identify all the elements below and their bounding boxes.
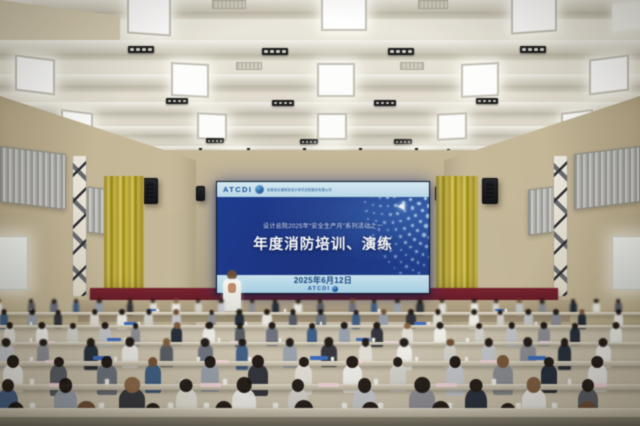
audience-member-head [393, 357, 403, 367]
audience-member-head [7, 355, 19, 368]
acoustic-slat-panel [574, 146, 640, 210]
audience-member-head [571, 299, 575, 303]
audience-member-head [299, 357, 309, 368]
paper-cup [378, 309, 380, 312]
audience-member-head [125, 337, 134, 347]
audience-member-head [395, 299, 399, 303]
paper-cup [279, 338, 281, 341]
presenter-arm [228, 283, 236, 293]
hall-window [612, 236, 640, 290]
audience-member-head [151, 299, 155, 303]
audience-member-head [133, 323, 139, 329]
audience-member-head [237, 309, 242, 315]
audience-member-head [269, 322, 276, 329]
slide-footer: 2025年6月12日 ATCDI [217, 275, 429, 293]
audience-member-head [582, 379, 594, 392]
audience-member-head [485, 338, 493, 347]
ceiling-light-panel [512, 0, 556, 34]
audience-member-head [400, 338, 409, 347]
audience-seating [0, 296, 640, 426]
audience-member-head [572, 323, 578, 330]
audience-member-head [599, 338, 608, 347]
audience-member-head [540, 322, 547, 330]
audience-member-head [616, 309, 622, 315]
audience-member-head [408, 309, 414, 315]
audience-member-head [414, 377, 429, 393]
handout-paper [200, 383, 221, 387]
audience-member-head [2, 379, 14, 392]
ceiling-strip-light [272, 100, 294, 106]
ceiling-light-panel [318, 64, 354, 96]
slide-brand-text: ATCDI [223, 185, 252, 194]
ceiling-strip-light [262, 48, 288, 55]
paper-cup [320, 322, 322, 325]
desk-nameplate [528, 356, 546, 360]
paper-cup [30, 379, 34, 384]
audience-member-head [180, 379, 193, 393]
audience-member-head [341, 322, 348, 329]
ceiling-light-panel [322, 0, 366, 30]
ceiling-light-panel [438, 113, 466, 139]
paper-cup [114, 357, 117, 361]
audience-member-head [74, 299, 78, 303]
ceiling-light-panel [318, 114, 346, 139]
audience-member-head [173, 309, 179, 315]
slide-date: 2025年6月12日 [294, 277, 352, 285]
stage-curtain [436, 176, 478, 300]
ceiling-light-panel [128, 0, 170, 35]
paper-cup [248, 357, 251, 361]
audience-member-head [174, 322, 181, 329]
audience-member-head [446, 339, 453, 347]
audience-member-head [517, 299, 521, 303]
audience-member-head [527, 377, 542, 392]
audience-member-head [470, 379, 483, 393]
handout-paper [436, 383, 457, 387]
audience-member-head [472, 299, 476, 304]
audience-member-head [495, 299, 499, 303]
audience-member-head [52, 299, 57, 304]
handout-paper [384, 341, 397, 343]
audience-member-head [205, 356, 216, 367]
audience-member-head [39, 339, 46, 347]
audience-member-head [252, 355, 264, 368]
ceiling-light-panel [590, 56, 628, 95]
ceiling-light-panel [612, 0, 640, 31]
paper-cup [568, 379, 572, 384]
desk-row [0, 408, 640, 417]
audience-member [558, 344, 571, 370]
ceiling-light-panel [16, 56, 54, 95]
paper-cup [218, 338, 220, 341]
desk-nameplate [310, 356, 328, 360]
audience-member-head [291, 309, 296, 314]
audience-member-head [56, 310, 61, 315]
audience-member-head [292, 379, 304, 392]
auditorium-photo: ATCDI 安徽省交通规划设计研究总院股份有限公司 设计总院2025年“安全生产… [0, 0, 640, 426]
slide-logo-bar: ATCDI 安徽省交通规划设计研究总院股份有限公司 [217, 182, 429, 197]
audience-member-head [350, 299, 354, 304]
audience-member-head [553, 309, 559, 315]
audience-member-head [471, 309, 477, 315]
column-graphic [72, 156, 87, 296]
audience-member-head [540, 299, 545, 304]
brand-orb-icon [255, 185, 264, 194]
audience-member-head [196, 299, 200, 303]
wall-speaker [142, 178, 158, 204]
paper-cup [105, 379, 109, 384]
audience-member-head [250, 299, 254, 303]
slide-title: 年度消防培训、演练 [217, 233, 429, 254]
audience-member-head [436, 322, 443, 329]
paper-cup [223, 379, 227, 384]
paper-cup [284, 309, 286, 312]
audience-member-head [561, 338, 569, 346]
audience-member-head [146, 309, 151, 314]
ceiling-vent [236, 62, 262, 70]
audience-member-head [497, 355, 509, 368]
handout-paper [539, 341, 552, 343]
paper-cup [492, 379, 496, 384]
handout-paper [480, 360, 497, 363]
audience-member-head [273, 299, 277, 303]
acoustic-slat-panel [0, 146, 66, 210]
audience-member-head [237, 377, 252, 392]
hall-window [0, 236, 28, 290]
audience-member-head [296, 299, 301, 304]
paper-cup [466, 338, 468, 341]
audience-member-head [101, 356, 112, 368]
audience-member-head [346, 356, 357, 368]
audience-member-head [54, 357, 64, 368]
stage-curtain [104, 176, 144, 300]
ceiling-beam [0, 102, 640, 113]
audience-member-head [318, 309, 324, 315]
ceiling-strip-light [476, 98, 498, 104]
ceiling-strip-light [300, 139, 318, 144]
ceiling-strip-light [166, 98, 188, 104]
audience-member-head [219, 299, 223, 304]
audience-member-head [592, 356, 603, 368]
wall-speaker [196, 186, 205, 201]
slide-footer-brand-text: ATCDI [308, 286, 330, 292]
audience-member-head [580, 309, 585, 314]
audience-member-head [97, 299, 101, 304]
audience-member-head [435, 309, 440, 314]
ceiling-strip-light [388, 48, 414, 55]
ceiling-strip-light [206, 138, 224, 143]
audience-member [236, 344, 248, 370]
audience-member-head [163, 338, 171, 346]
ceiling-strip-light [128, 46, 154, 53]
audience-member-head [324, 337, 333, 347]
slide-footer-logo: ATCDI [308, 286, 338, 292]
audience-member-head [6, 322, 13, 329]
audience-member-head [362, 338, 370, 346]
audience-member-head [354, 310, 359, 315]
projection-screen: ATCDI 安徽省交通规划设计研究总院股份有限公司 设计总院2025年“安全生产… [216, 181, 430, 294]
ceiling-light-panel [198, 113, 226, 139]
audience-member-head [128, 299, 132, 303]
audience-member-head [373, 322, 380, 330]
handout-paper [318, 383, 339, 387]
audience-member-head [525, 309, 530, 315]
audience-member-head [544, 357, 554, 368]
audience-member-head [594, 299, 598, 304]
paper-cup [374, 379, 378, 384]
audience-member-head [69, 323, 75, 330]
audience-member-head [613, 322, 620, 329]
audience-member-head [358, 378, 372, 392]
audience-member-head [508, 322, 515, 329]
audience-member-head [119, 309, 125, 315]
audience-member-head [148, 357, 158, 367]
audience-member-head [125, 377, 140, 393]
audience-member-head [87, 338, 95, 347]
brand-orb-icon [332, 286, 338, 292]
audience-member-head [59, 378, 73, 392]
ceiling-light-panel [172, 63, 208, 97]
desk-front-panel [0, 417, 640, 426]
acoustic-slat-panel [528, 186, 554, 235]
paper-cup [505, 309, 507, 312]
audience-member-head [206, 322, 213, 330]
slide-subtitle: 设计总院2025年“安全生产月”系列活动之一 [217, 221, 429, 230]
audience-member-head [617, 299, 621, 303]
audience-member-head [29, 309, 35, 315]
audience-member-head [237, 323, 243, 330]
audience-member-head [440, 299, 444, 303]
audience-member-head [29, 299, 33, 303]
paper-cup [415, 357, 418, 361]
slide-brand-company-name: 安徽省交通规划设计研究总院股份有限公司 [267, 187, 332, 192]
ceiling-vent [212, 0, 246, 9]
audience-member-head [477, 323, 483, 329]
audience-member-head [174, 299, 179, 304]
slide-body: 设计总院2025年“安全生产月”系列活动之一 年度消防培训、演练 [217, 197, 429, 277]
audience-member-head [2, 338, 11, 347]
desk-nameplate [414, 322, 425, 324]
audience-member-head [450, 356, 461, 367]
audience-member-head [201, 338, 210, 347]
ceiling-strip-light [520, 46, 546, 53]
ceiling-light-panel [462, 63, 498, 97]
paper-cup [428, 322, 430, 325]
audience-member-head [381, 309, 386, 315]
audience-member-head [92, 309, 97, 315]
ceiling-vent [400, 62, 424, 70]
audience-member-head [318, 299, 322, 303]
ceiling-vent [418, 0, 448, 9]
audience-member-head [498, 310, 503, 315]
audience-member-head [264, 309, 270, 315]
ceiling-strip-light [394, 139, 412, 144]
desk-nameplate [107, 338, 121, 341]
audience-member-head [404, 323, 410, 330]
audience-member-head [372, 299, 376, 303]
audience-member-head [309, 323, 315, 329]
audience-member-head [238, 339, 245, 347]
paper-cup [157, 309, 159, 312]
paper-cup [30, 322, 32, 325]
column-graphic [553, 156, 568, 296]
audience-member [446, 364, 464, 396]
ceiling-soffit [0, 54, 640, 60]
paper-cup [372, 338, 374, 341]
audience-member-head [523, 337, 532, 347]
wall-speaker [482, 178, 498, 204]
audience-member-head [0, 299, 1, 303]
audience-member-head [286, 338, 294, 347]
audience-member-head [101, 322, 108, 329]
audience-member-head [2, 309, 7, 314]
audience-member-head [38, 322, 45, 330]
ceiling-strip-light [374, 100, 396, 106]
audience-member-head [209, 310, 214, 315]
audience-member-head [418, 299, 423, 304]
